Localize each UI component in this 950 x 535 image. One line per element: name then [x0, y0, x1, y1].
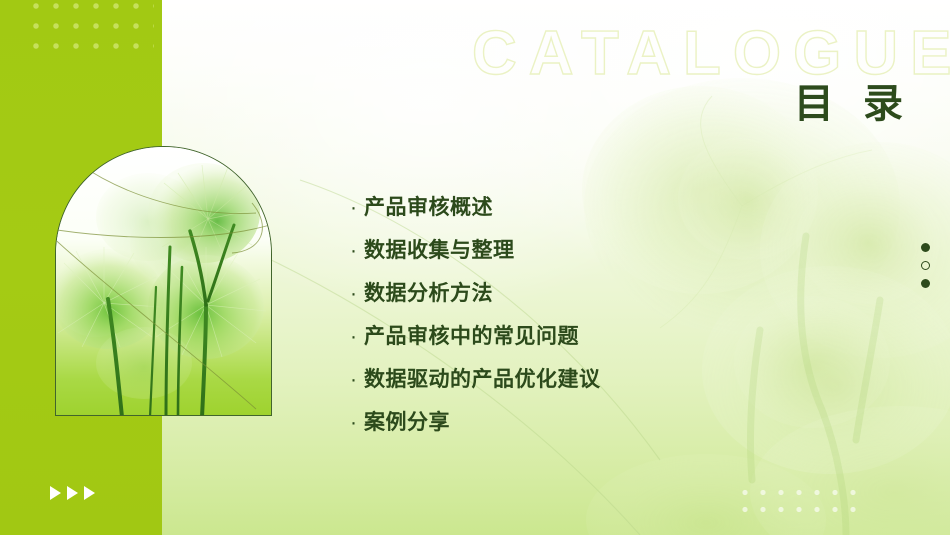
- dot-grid-pattern-bottom-icon: [736, 484, 862, 524]
- bullet-icon: ·: [350, 369, 364, 390]
- bullet-icon: ·: [350, 283, 364, 304]
- arch-image-frame: [55, 146, 272, 416]
- list-item-label: 数据驱动的产品优化建议: [364, 367, 601, 393]
- bullet-icon: ·: [350, 412, 364, 433]
- list-item[interactable]: · 案例分享: [350, 401, 780, 444]
- list-item[interactable]: · 数据分析方法: [350, 272, 780, 315]
- arrow-right-icon: [67, 486, 78, 500]
- page-title: 目 录: [794, 82, 912, 126]
- dot-grid-pattern-icon: [26, 0, 154, 60]
- dot-filled-icon: [921, 243, 930, 252]
- list-item[interactable]: · 数据驱动的产品优化建议: [350, 358, 780, 401]
- bullet-icon: ·: [350, 240, 364, 261]
- dot-filled-icon: [921, 279, 930, 288]
- list-item-label: 产品审核概述: [364, 195, 493, 221]
- bullet-icon: ·: [350, 197, 364, 218]
- dot-hollow-icon: [921, 261, 930, 270]
- arrow-right-icon: [84, 486, 95, 500]
- catalogue-watermark-text: CATALOGUE: [472, 23, 932, 85]
- list-item-label: 产品审核中的常见问题: [364, 324, 579, 350]
- lotus-leaves-photo: [56, 147, 272, 416]
- table-of-contents-list: · 产品审核概述 · 数据收集与整理 · 数据分析方法 · 产品审核中的常见问题…: [350, 186, 780, 444]
- triple-arrow-icon: [50, 486, 95, 500]
- list-item-label: 数据分析方法: [364, 281, 493, 307]
- bullet-icon: ·: [350, 326, 364, 347]
- list-item-label: 数据收集与整理: [364, 238, 515, 264]
- arrow-right-icon: [50, 486, 61, 500]
- list-item[interactable]: · 数据收集与整理: [350, 229, 780, 272]
- list-item[interactable]: · 产品审核中的常见问题: [350, 315, 780, 358]
- list-item-label: 案例分享: [364, 410, 450, 436]
- list-item[interactable]: · 产品审核概述: [350, 186, 780, 229]
- decorative-dot-trio: [921, 243, 930, 288]
- slide-canvas: CATALOGUE 目 录 · 产品审核概述 · 数据收集与整理 · 数据分析方…: [0, 0, 950, 535]
